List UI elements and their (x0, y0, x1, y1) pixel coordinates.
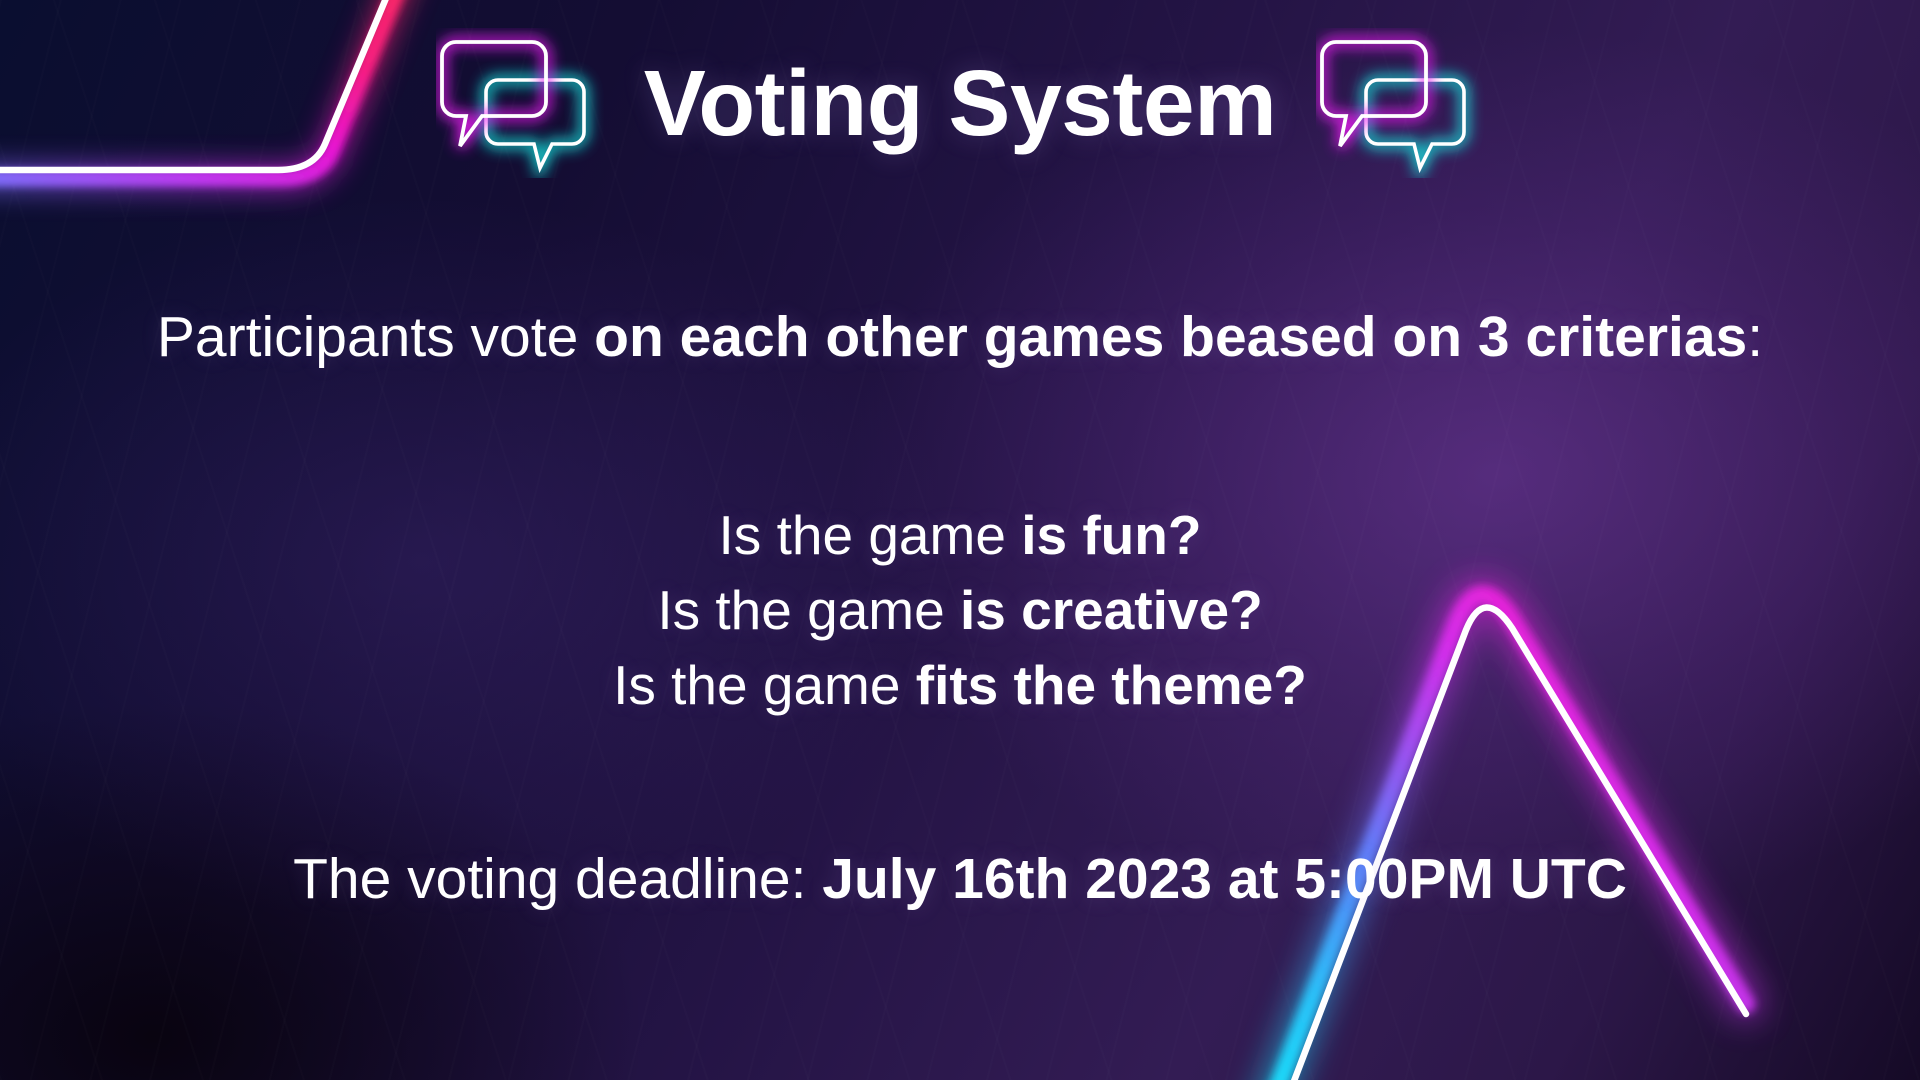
criterion-prefix: Is the game (613, 654, 916, 716)
deadline-label: The voting deadline: (293, 847, 822, 911)
body-copy: Participants vote on each other games be… (0, 300, 1920, 916)
criterion-line: Is the game fits the theme? (0, 648, 1920, 723)
criterion-prefix: Is the game (719, 504, 1022, 566)
criterion-line: Is the game is fun? (0, 498, 1920, 573)
spacer (0, 376, 1920, 498)
deadline-value: July 16th 2023 at 5:00PM UTC (822, 847, 1627, 911)
deadline-line: The voting deadline: July 16th 2023 at 5… (0, 842, 1920, 916)
criterion-highlight: is fun? (1021, 504, 1201, 566)
intro-text-colon: : (1747, 305, 1763, 369)
slide-canvas: Voting System Participants vote on ea (0, 0, 1920, 1080)
header: Voting System (0, 28, 1920, 178)
criterion-highlight: is creative? (960, 579, 1263, 641)
intro-paragraph: Participants vote on each other games be… (0, 300, 1920, 376)
intro-text-bold: on each other games beased on 3 criteria… (594, 305, 1747, 369)
criterion-line: Is the game is creative? (0, 573, 1920, 648)
speech-bubbles-icon (436, 28, 604, 178)
intro-text-regular: Participants vote (157, 305, 594, 369)
speech-bubbles-icon (1316, 28, 1484, 178)
spacer (0, 724, 1920, 842)
criterion-prefix: Is the game (657, 579, 960, 641)
page-title: Voting System (644, 57, 1277, 150)
criterion-highlight: fits the theme? (916, 654, 1307, 716)
